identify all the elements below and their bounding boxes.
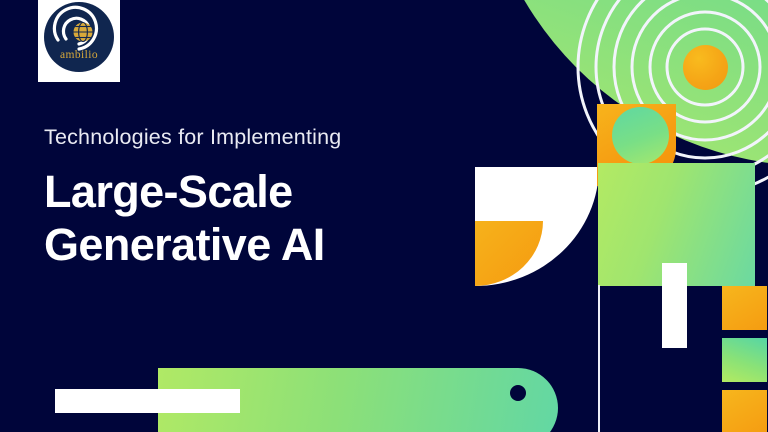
rule-white-icon [598, 285, 600, 432]
slide-canvas: ambilio Technologies for Implementing La… [0, 0, 768, 432]
headline-line-1: Large-Scale [44, 166, 293, 217]
ball-green-icon [612, 107, 669, 164]
brand-logo[interactable]: ambilio [38, 0, 120, 82]
page-title: Large-Scale Generative AI [44, 165, 464, 271]
title-block: Technologies for Implementing Large-Scal… [44, 124, 464, 271]
eyebrow-text: Technologies for Implementing [44, 124, 464, 151]
headline-line-2: Generative AI [44, 218, 464, 271]
ring-core-circle-icon [683, 45, 728, 90]
quarter-circle-orange-icon [475, 221, 543, 286]
bar-white-bottom-icon [55, 389, 240, 413]
square-small-orange-top-icon [722, 286, 767, 330]
bar-white-vertical-icon [662, 263, 687, 348]
logo-circle: ambilio [44, 2, 114, 72]
square-small-orange-bottom-icon [722, 390, 767, 432]
square-small-green-icon [722, 338, 767, 382]
dot-navy-icon [510, 385, 526, 401]
logo-wordmark: ambilio [60, 49, 98, 61]
